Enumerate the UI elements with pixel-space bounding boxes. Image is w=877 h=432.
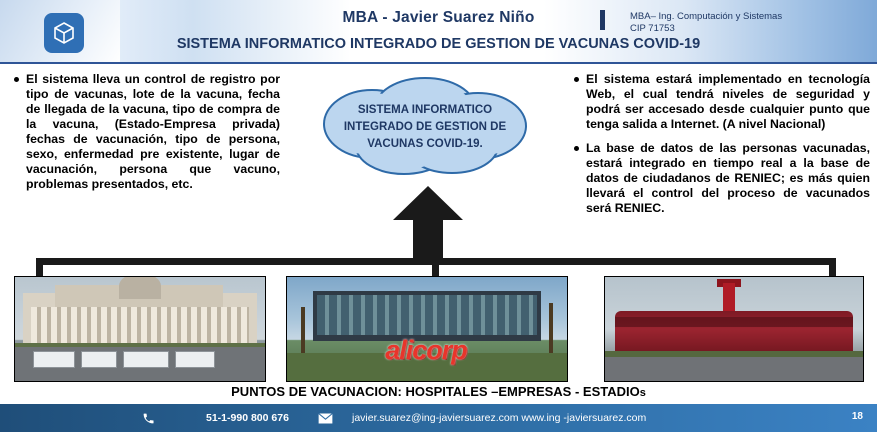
right-bullet-list: El sistema estará implementado en tecnol… <box>570 72 870 216</box>
slide-header: MBA - Javier Suarez Niño MBA– Ing. Compu… <box>0 0 877 64</box>
alicorp-photo: alicorp <box>286 276 568 382</box>
photo-stadium-ring <box>615 317 853 327</box>
photo-ground <box>605 357 863 381</box>
alicorp-logo-text: alicorp <box>311 335 541 366</box>
page-title: SISTEMA INFORMATICO INTEGRADO DE GESTION… <box>0 36 877 52</box>
left-bullet-column: El sistema lleva un control de registro … <box>10 72 280 201</box>
cloud-line-2: INTEGRADO DE GESTION DE <box>300 119 550 136</box>
header-rule <box>0 62 877 64</box>
list-item: El sistema lleva un control de registro … <box>26 72 280 192</box>
header-divider <box>600 10 605 30</box>
cloud-label: SISTEMA INFORMATICO INTEGRADO DE GESTION… <box>300 102 550 153</box>
photos-caption: PUNTOS DE VACUNACION: HOSPITALES –EMPRES… <box>0 384 877 399</box>
cloud-line-1: SISTEMA INFORMATICO <box>300 102 550 119</box>
envelope-icon <box>318 412 333 430</box>
photo-dome <box>119 276 161 299</box>
estadio-photo <box>604 276 864 382</box>
photo-glass-facade <box>317 295 537 335</box>
photo-vehicle <box>123 351 169 368</box>
affiliation-line-2: CIP 71753 <box>630 23 870 35</box>
cloud-shape: SISTEMA INFORMATICO INTEGRADO DE GESTION… <box>300 74 550 184</box>
photo-palm <box>301 307 305 355</box>
presenter-affiliation: MBA– Ing. Computación y Sistemas CIP 717… <box>630 11 870 35</box>
caption-main: PUNTOS DE VACUNACION: HOSPITALES –EMPRES… <box>231 384 640 399</box>
photo-vehicle <box>81 351 117 368</box>
right-bullet-column: El sistema estará implementado en tecnol… <box>570 72 870 225</box>
congreso-photo <box>14 276 266 382</box>
phone-icon <box>142 412 155 430</box>
photo-vehicle <box>175 351 215 368</box>
list-item: La base de datos de las personas vacunad… <box>586 141 870 216</box>
photo-columns <box>31 307 249 345</box>
list-item: El sistema estará implementado en tecnol… <box>586 72 870 132</box>
photo-vehicle <box>33 351 75 368</box>
affiliation-line-1: MBA– Ing. Computación y Sistemas <box>630 11 870 23</box>
footer-phone-number: 51-1-990 800 676 <box>206 412 289 424</box>
slide-number: 18 <box>852 411 863 422</box>
photo-palm <box>549 303 553 355</box>
slide: MBA - Javier Suarez Niño MBA– Ing. Compu… <box>0 0 877 432</box>
left-bullet-list: El sistema lleva un control de registro … <box>10 72 280 192</box>
caption-tail: s <box>640 387 646 399</box>
up-arrow-icon <box>393 186 463 261</box>
footer-email: javier.suarez@ing-javiersuarez.com www.i… <box>352 412 646 424</box>
slide-footer: 51-1-990 800 676 javier.suarez@ing-javie… <box>0 404 877 432</box>
cloud-line-3: VACUNAS COVID-19. <box>300 136 550 153</box>
